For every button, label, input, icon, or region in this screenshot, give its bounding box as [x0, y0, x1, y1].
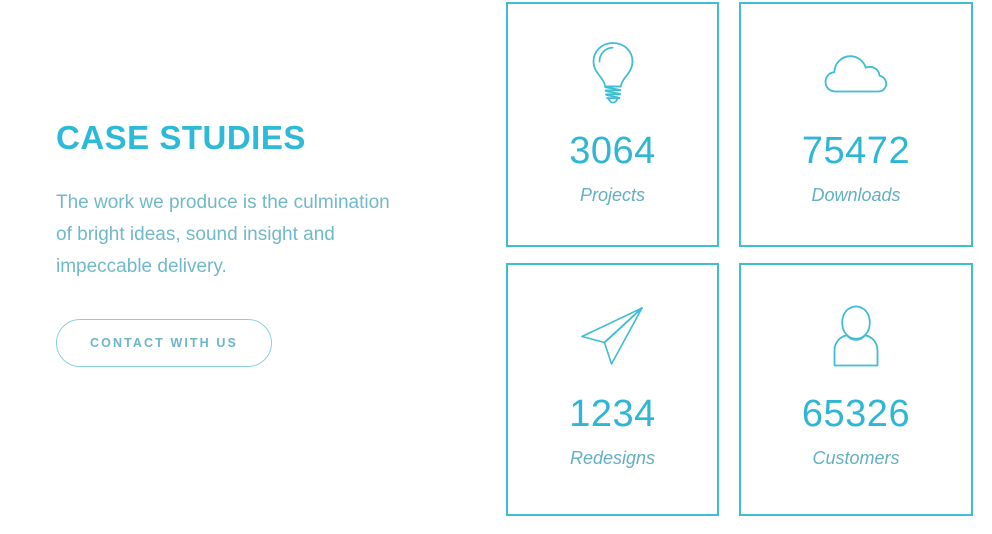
stat-label: Redesigns — [570, 448, 655, 469]
stat-label: Downloads — [811, 185, 900, 206]
stat-value: 75472 — [802, 132, 910, 170]
stat-card-downloads[interactable]: 75472 Downloads — [739, 2, 973, 247]
stat-label: Customers — [812, 448, 899, 469]
stat-value: 3064 — [569, 132, 656, 170]
stat-label: Projects — [580, 185, 645, 206]
stat-card-redesigns[interactable]: 1234 Redesigns — [506, 263, 719, 516]
case-studies-section: CASE STUDIES The work we produce is the … — [0, 0, 992, 534]
page-title: CASE STUDIES — [56, 120, 456, 156]
stats-grid: 3064 Projects 75472 Downloads 1234 — [506, 2, 973, 516]
stat-card-customers[interactable]: 65326 Customers — [739, 263, 973, 516]
cloud-icon — [823, 42, 889, 104]
paper-plane-icon — [578, 305, 648, 367]
stat-card-projects[interactable]: 3064 Projects — [506, 2, 719, 247]
stat-value: 1234 — [569, 395, 656, 433]
lightbulb-icon — [585, 42, 641, 104]
stat-value: 65326 — [802, 395, 910, 433]
contact-with-us-button[interactable]: CONTACT WITH US — [56, 319, 272, 367]
section-description: The work we produce is the culmination o… — [56, 187, 401, 283]
intro-panel: CASE STUDIES The work we produce is the … — [56, 120, 456, 367]
user-icon — [830, 305, 882, 367]
